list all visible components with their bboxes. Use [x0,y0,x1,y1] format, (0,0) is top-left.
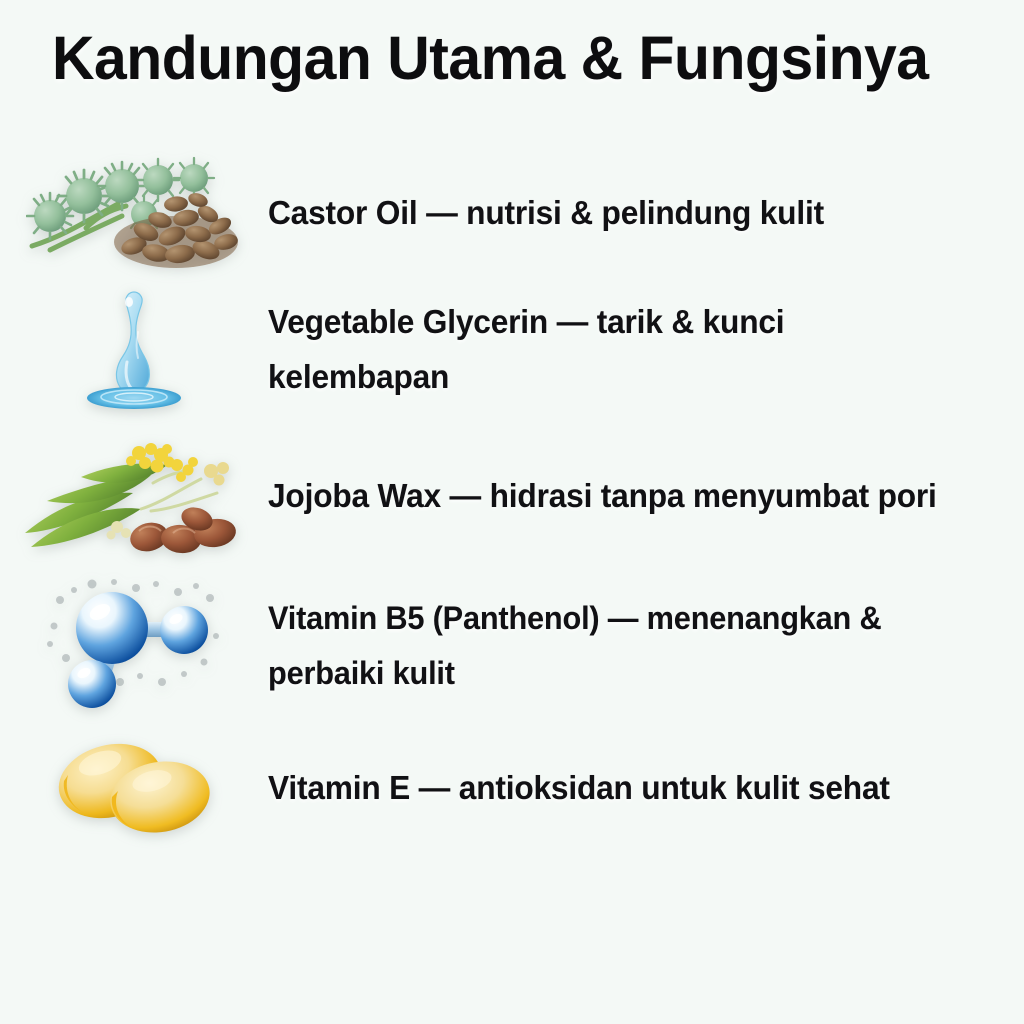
castor-bean-plant-icon [26,154,244,270]
ingredient-text-cell: Jojoba Wax — hidrasi tanpa menyumbat por… [268,468,1024,523]
list-item: Jojoba Wax — hidrasi tanpa menyumbat por… [0,420,1024,570]
ingredient-label: Vitamin B5 (Panthenol) — menenangkan & p… [268,591,971,701]
softgel-capsule-icon [48,735,220,839]
ingredient-icon-cell [0,570,268,722]
list-item: Vitamin E — antioksidan untuk kulit seha… [0,722,1024,852]
ingredient-label: Vegetable Glycerin — tarik & kunci kelem… [268,294,971,404]
ingredient-label: Castor Oil — nutrisi & pelindung kulit [268,185,971,240]
ingredient-text-cell: Vegetable Glycerin — tarik & kunci kelem… [268,294,1024,404]
molecule-model-icon [44,578,224,714]
ingredient-icon-cell [0,722,268,852]
page-title: Kandungan Utama & Fungsinya [52,22,949,94]
list-item: Castor Oil — nutrisi & pelindung kulit [0,146,1024,278]
ingredient-text-cell: Vitamin E — antioksidan untuk kulit seha… [268,760,1024,815]
ingredient-icon-cell [0,420,268,570]
ingredient-label: Vitamin E — antioksidan untuk kulit seha… [268,760,971,815]
list-item: Vitamin B5 (Panthenol) — menenangkan & p… [0,570,1024,722]
ingredient-list: Castor Oil — nutrisi & pelindung kulit [0,146,1024,852]
ingredient-icon-cell [0,146,268,278]
ingredient-icon-cell [0,278,268,420]
list-item: Vegetable Glycerin — tarik & kunci kelem… [0,278,1024,420]
ingredient-label: Jojoba Wax — hidrasi tanpa menyumbat por… [268,468,971,523]
ingredient-text-cell: Castor Oil — nutrisi & pelindung kulit [268,185,1024,240]
water-droplet-icon [78,286,190,412]
infographic-page: Kandungan Utama & Fungsinya [0,0,1024,1024]
ingredient-text-cell: Vitamin B5 (Panthenol) — menenangkan & p… [268,591,1024,701]
jojoba-plant-icon [21,431,247,559]
